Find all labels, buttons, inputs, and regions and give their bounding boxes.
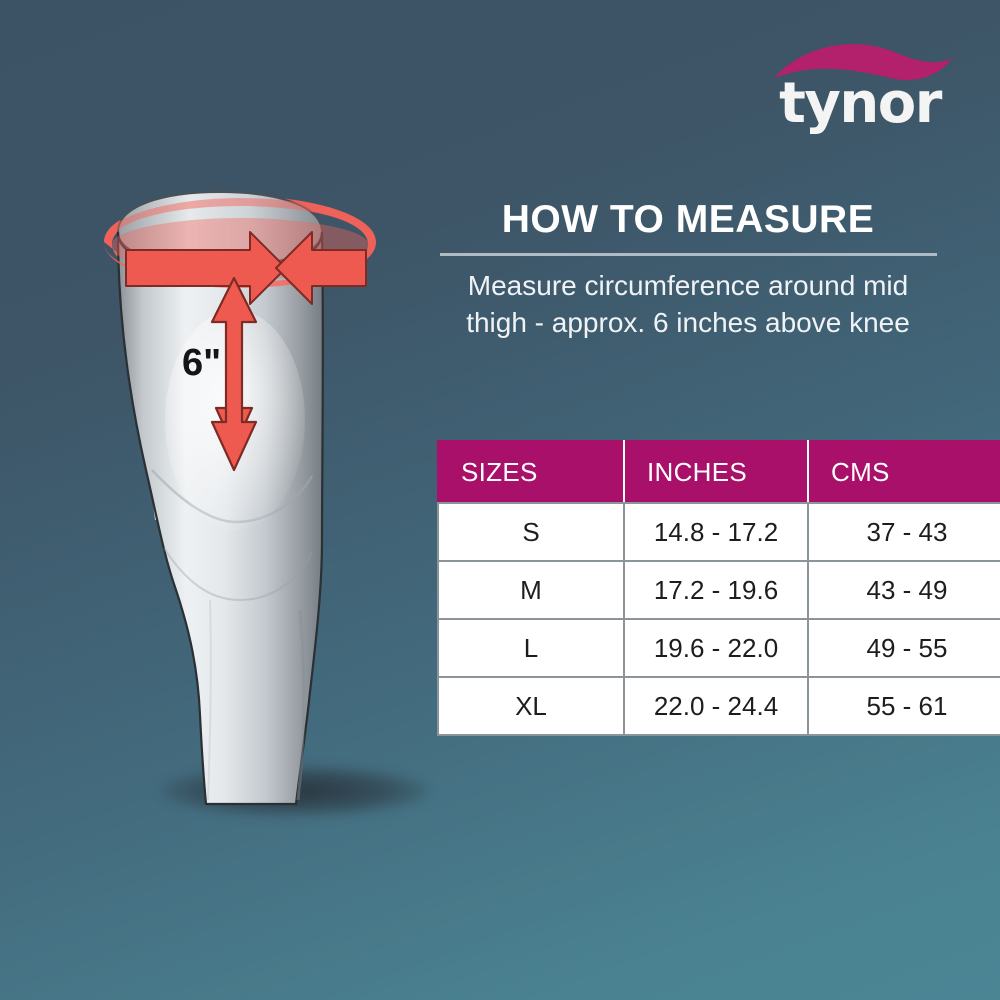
cell-size: L: [438, 619, 624, 677]
column-header-inches: INCHES: [624, 441, 808, 503]
cell-cms: 43 - 49: [808, 561, 1000, 619]
instruction-text: Measure circumference around mid thigh -…: [428, 268, 948, 342]
column-header-sizes: SIZES: [438, 441, 624, 503]
cell-inches: 22.0 - 24.4: [624, 677, 808, 735]
cell-size: M: [438, 561, 624, 619]
cell-size: XL: [438, 677, 624, 735]
cell-cms: 55 - 61: [808, 677, 1000, 735]
height-arrow-overlay: [60, 170, 420, 850]
size-chart-table: SIZES INCHES CMS S 14.8 - 17.2 37 - 43 M…: [437, 440, 1000, 736]
table-row: S 14.8 - 17.2 37 - 43: [438, 503, 1000, 561]
table-row: M 17.2 - 19.6 43 - 49: [438, 561, 1000, 619]
cell-cms: 49 - 55: [808, 619, 1000, 677]
cell-inches: 14.8 - 17.2: [624, 503, 808, 561]
instruction-line-1: Measure circumference around mid: [428, 268, 948, 305]
cell-inches: 19.6 - 22.0: [624, 619, 808, 677]
leg-illustration: 6": [60, 170, 420, 850]
cell-inches: 17.2 - 19.6: [624, 561, 808, 619]
table-row: XL 22.0 - 24.4 55 - 61: [438, 677, 1000, 735]
tynor-logo: tynor: [760, 38, 960, 148]
size-chart-page: tynor HOW TO MEASURE Measure circumferen…: [0, 0, 1000, 1000]
page-title: HOW TO MEASURE: [430, 198, 946, 242]
logo-wordmark: tynor: [760, 76, 960, 132]
table-header-row: SIZES INCHES CMS: [438, 441, 1000, 503]
table-row: L 19.6 - 22.0 49 - 55: [438, 619, 1000, 677]
instruction-line-2: thigh - approx. 6 inches above knee: [428, 305, 948, 342]
title-divider: [440, 253, 937, 256]
measurement-label: 6": [182, 342, 221, 385]
cell-size: S: [438, 503, 624, 561]
cell-cms: 37 - 43: [808, 503, 1000, 561]
column-header-cms: CMS: [808, 441, 1000, 503]
